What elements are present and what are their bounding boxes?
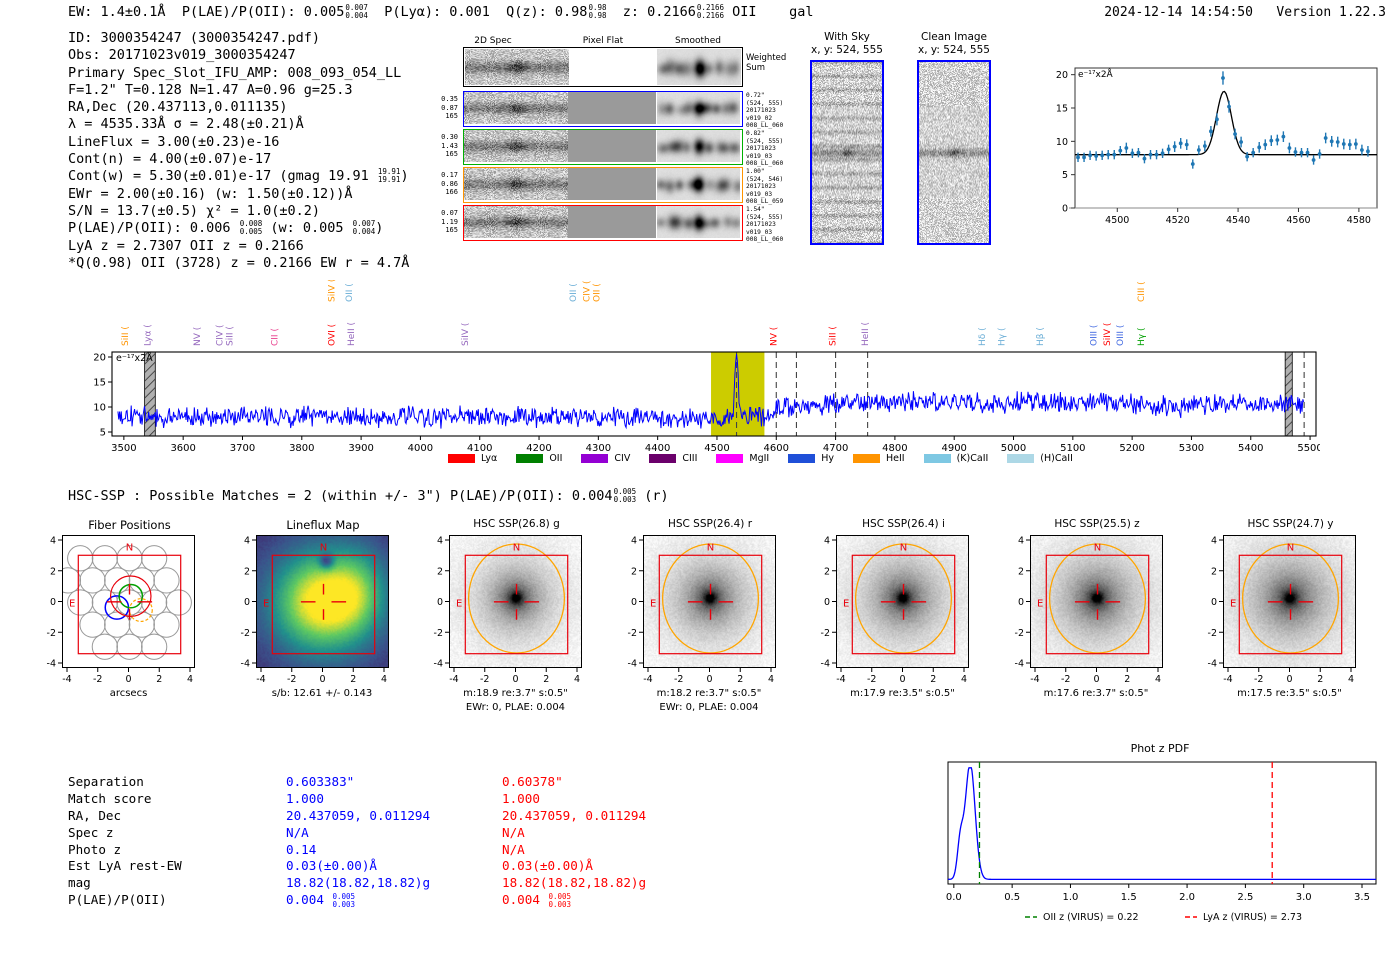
orientation-overlay: NE [63,536,195,668]
svg-text:0: 0 [1093,674,1099,685]
info-line-sn: S/N = 13.7(±0.5) χ² = 1.0(±0.2) [68,203,409,220]
fiber-pixelflat-image [568,168,656,200]
svg-text:-2: -2 [287,674,296,685]
svg-text:-4: -4 [1014,659,1023,670]
svg-text:HeII (: HeII ( [861,322,871,346]
svg-text:-4: -4 [62,674,71,685]
cutout-y-axis: 420-2-4 [415,531,449,672]
info-line-ewr: EWr = 2.00(±0.16) (w: 1.50(±0.12))Å [68,186,409,203]
match-value-red: 1.000 [502,791,540,808]
legend-swatch [924,454,951,463]
svg-text:4: 4 [630,536,636,547]
cutout-sub1: m:18.9 re:3.7" s:0.5" [425,688,606,699]
svg-text:-4: -4 [836,674,845,685]
svg-text:-2: -2 [93,674,102,685]
svg-text:0: 0 [243,597,249,608]
svg-text:4: 4 [380,674,386,685]
legend-swatch [853,454,880,463]
legend-swatch [448,454,475,463]
svg-text:4: 4 [961,674,967,685]
header-z: z: 0.2166 [623,4,696,20]
svg-text:LyA z (VIRUS) = 2.73: LyA z (VIRUS) = 2.73 [1203,912,1302,923]
svg-text:5300: 5300 [1179,443,1204,454]
version-label: Version 1.22.3 [1276,5,1386,20]
svg-text:4: 4 [1211,536,1217,547]
cutout-title: HSC SSP(26.4) r [637,518,784,530]
svg-text:2: 2 [737,674,743,685]
match-value-blue: 0.14 [286,842,316,859]
match-value-blue: 20.437059, 0.011294 [286,808,430,825]
legend-swatch [716,454,743,463]
svg-text:E: E [1036,598,1042,609]
legend-swatch [649,454,676,463]
weighted-sum-label: WeightedSum [746,53,786,73]
hscssp-headline-tail: (r) [644,488,668,504]
svg-text:-4: -4 [821,659,830,670]
svg-text:-4: -4 [240,659,249,670]
svg-text:SiII (: SiII ( [121,326,131,346]
svg-text:-4: -4 [256,674,265,685]
svg-text:SiIV (: SiIV ( [327,280,337,302]
cutout-y-axis: 420-2-4 [1189,531,1223,672]
match-value-red: 0.03(±0.00)Å [502,858,593,875]
spec2d-col-title-0: 2D Spec [453,36,533,46]
svg-text:4540: 4540 [1226,215,1250,226]
fiber-stats-left: 0.071.19165 [418,209,458,235]
svg-text:3800: 3800 [289,443,314,454]
svg-text:15: 15 [1056,104,1068,115]
svg-text:HeII (: HeII ( [347,322,357,346]
sky-panel-coords: x, y: 524, 555 [792,44,902,57]
svg-text:3900: 3900 [348,443,373,454]
legend-item-HCaII: (H)CaII [1007,453,1073,464]
legend-swatch [581,454,608,463]
info-line-obs: Obs: 20171023v019_3000354247 [68,47,409,64]
svg-text:-4: -4 [1208,659,1217,670]
info-line-radec: RA,Dec (20.437113,0.011135) [68,99,409,116]
svg-text:2: 2 [824,566,830,577]
legend-label: CIII [682,453,697,464]
svg-text:OII z (VIRUS) = 0.22: OII z (VIRUS) = 0.22 [1043,912,1139,923]
cutout-sub1: m:17.5 re:3.5" s:0.5" [1199,688,1380,699]
timestamp: 2024-12-14 14:54:50 [1104,5,1253,20]
svg-text:4: 4 [50,536,56,547]
svg-text:15: 15 [93,378,106,389]
svg-text:4: 4 [767,674,773,685]
header-class: gal [789,4,813,20]
svg-text:3.0: 3.0 [1296,892,1312,903]
svg-text:0: 0 [50,597,56,608]
svg-text:Hγ (: Hγ ( [998,328,1008,346]
svg-text:4: 4 [1017,536,1023,547]
match-value-blue: 18.82(18.82,18.82)g [286,875,430,892]
svg-text:CIII (: CIII ( [1137,281,1147,302]
fiber-pixelflat-image [568,206,656,238]
spec2d-fiber-row [463,167,743,203]
legend-item-Hy: Hy [788,453,834,464]
match-value-red: N/A [502,842,525,859]
legend-item-CIII: CIII [649,453,697,464]
header-plya: P(Lyα): 0.001 [384,4,490,20]
match-value-red: 0.60378" [502,774,563,791]
svg-text:CIV (: CIV ( [582,281,592,302]
svg-text:4: 4 [1154,674,1160,685]
legend-item-Lyα: Lyα [448,453,497,464]
svg-text:E: E [843,598,849,609]
legend-item-MgII: MgII [716,453,769,464]
svg-text:N: N [1287,543,1294,554]
svg-text:Lyα (: Lyα ( [144,324,154,346]
line-fit-chart: 0510152045004520454045604580e⁻¹⁷x2Å [1035,50,1385,240]
svg-text:-4: -4 [643,674,652,685]
svg-text:OII (: OII ( [569,283,579,302]
svg-text:CII (: CII ( [270,328,280,346]
cutout-sub2: EWr: 0, PLAE: 0.004 [425,702,606,713]
match-value-red: 0.004 0.0050.003 [502,892,571,909]
svg-text:0: 0 [1017,597,1023,608]
cutout-image-box[interactable]: NE [449,535,582,668]
spec2d-col-title-2: Smoothed [658,36,738,46]
sky-panel-coords: x, y: 524, 555 [899,44,1009,57]
cutout-sub1: m:17.6 re:3.7" s:0.5" [1006,688,1187,699]
match-value-blue: 1.000 [286,791,324,808]
legend-item-KCaII: (K)CaII [924,453,989,464]
svg-text:2: 2 [243,566,249,577]
info-line-qz: *Q(0.98) OII (3728) z = 0.2166 EW r = 4.… [68,255,409,272]
svg-text:1.0: 1.0 [1062,892,1078,903]
svg-text:N: N [706,543,713,554]
svg-text:2: 2 [543,674,549,685]
match-row-label: P(LAE)/P(OII) [68,892,167,909]
svg-text:0: 0 [437,597,443,608]
svg-text:-4: -4 [47,659,56,670]
svg-text:20: 20 [93,353,106,364]
svg-text:4: 4 [824,536,830,547]
sky-panel-image-box [917,60,991,245]
svg-text:e⁻¹⁷x2Å: e⁻¹⁷x2Å [116,352,153,364]
source-info-block: ID: 3000354247 (3000354247.pdf) Obs: 201… [68,30,409,272]
fiber-smoothed-image [657,130,740,162]
svg-text:2: 2 [630,566,636,577]
svg-text:N: N [1093,543,1100,554]
match-value-blue: 0.004 0.0050.003 [286,892,355,909]
svg-text:SiIV (: SiIV ( [461,323,471,346]
svg-text:-2: -2 [627,628,636,639]
info-line-ifu: Primary Spec_Slot_IFU_AMP: 008_093_054_L… [68,65,409,82]
svg-text:0: 0 [630,597,636,608]
sky-panel-title: With Skyx, y: 524, 555 [792,31,902,56]
hscssp-lo: 0.003 [614,496,637,504]
svg-text:0.5: 0.5 [1004,892,1020,903]
info-line-contw: Cont(w) = 5.30(±0.01)e-17 (gmag 19.91 19… [68,168,409,185]
legend-label: OII [549,453,562,464]
svg-text:E: E [649,598,655,609]
sky-panel-image [919,62,989,243]
header-z-lo: 0.2166 [697,12,724,20]
svg-text:-2: -2 [434,628,443,639]
svg-text:5400: 5400 [1238,443,1263,454]
fiber-pixelflat-image [568,92,656,124]
svg-text:-2: -2 [674,674,683,685]
svg-text:4: 4 [1348,674,1354,685]
header-ew: EW: 1.4±0.1Å [68,4,166,20]
svg-text:1.5: 1.5 [1121,892,1137,903]
svg-text:2: 2 [1124,674,1130,685]
svg-text:e⁻¹⁷x2Å: e⁻¹⁷x2Å [1078,68,1114,80]
svg-text:E: E [69,598,75,609]
svg-text:-2: -2 [867,674,876,685]
svg-text:2.0: 2.0 [1179,892,1195,903]
fiber-stats-left: 0.170.86166 [418,171,458,197]
svg-text:Hγ (: Hγ ( [1137,328,1147,346]
legend-item-OII: OII [516,453,562,464]
svg-text:SiIV (: SiIV ( [1103,323,1113,346]
match-value-red: N/A [502,825,525,842]
match-row-label: Match score [68,791,151,808]
svg-text:3.5: 3.5 [1354,892,1370,903]
svg-text:5: 5 [100,428,106,439]
match-value-blue: 0.603383" [286,774,354,791]
header-qz-lo: 0.98 [588,12,606,20]
svg-text:N: N [900,543,907,554]
cutout-title: HSC SSP(26.4) i [830,518,977,530]
photz-pdf-chart: Phot z PDF0.00.51.01.52.02.53.03.5OII z … [930,740,1390,940]
svg-text:-2: -2 [240,628,249,639]
svg-text:NV (: NV ( [769,327,779,346]
spec2d-fiber-row [463,129,743,165]
match-row-label: Separation [68,774,144,791]
cutout-y-axis: 420-2-4 [609,531,643,672]
svg-text:0: 0 [1286,674,1292,685]
info-line-lambda: λ = 4535.33Å σ = 2.48(±0.21)Å [68,116,409,133]
header-plae-lo: 0.004 [345,12,368,20]
svg-text:10: 10 [93,403,106,414]
svg-text:E: E [456,598,462,609]
svg-text:0: 0 [125,674,131,685]
svg-text:4580: 4580 [1347,215,1371,226]
info-line-plae: P(LAE)/P(OII): 0.006 0.0080.005 (w: 0.00… [68,220,409,237]
sky-panel-title: Clean Imagex, y: 524, 555 [899,31,1009,56]
cutout-image-box[interactable]: NE [256,535,389,668]
match-row-label: RA, Dec [68,808,121,825]
legend-swatch [788,454,815,463]
match-row-label: mag [68,875,91,892]
fiber-smoothed-image [657,206,740,238]
svg-text:20: 20 [1056,70,1068,81]
cutout-image-box[interactable]: NE [62,535,195,668]
svg-text:10: 10 [1056,137,1068,148]
info-line-contn: Cont(n) = 4.00(±0.07)e-17 [68,151,409,168]
orientation-overlay: NE [257,536,389,668]
cutout-sub1: arcsecs [38,688,219,699]
sky-panel-image [812,62,882,243]
weighted-sum-2dspec-image [465,49,569,85]
svg-text:-2: -2 [1014,628,1023,639]
svg-text:3500: 3500 [111,443,136,454]
cutout-title: HSC SSP(26.8) g [443,518,590,530]
info-line-lineflux: LineFlux = 3.00(±0.23)e-16 [68,134,409,151]
hscssp-headline: HSC-SSP : Possible Matches = 2 (within +… [68,488,669,504]
svg-text:0: 0 [319,674,325,685]
cutout-title: Fiber Positions [56,518,203,532]
legend-swatch [1007,454,1034,463]
orientation-overlay: NE [450,536,582,668]
svg-text:-2: -2 [821,628,830,639]
cutout-y-axis: 420-2-4 [222,531,256,672]
match-value-blue: 0.03(±0.00)Å [286,858,377,875]
legend-swatch [516,454,543,463]
match-row-label: Est LyA rest-EW [68,858,182,875]
svg-text:-4: -4 [434,659,443,670]
cutout-y-axis: 420-2-4 [28,531,62,672]
svg-text:-4: -4 [1030,674,1039,685]
svg-text:Phot z PDF: Phot z PDF [1131,742,1190,755]
info-line-obsparams: F=1.2" T=0.128 N=1.47 A=0.96 g=25.3 [68,82,409,99]
svg-text:2: 2 [437,566,443,577]
svg-text:SiII (: SiII ( [829,326,839,346]
svg-text:4: 4 [243,536,249,547]
orientation-overlay: NE [837,536,969,668]
fiber-pixelflat-image [568,130,656,162]
sky-panel-title-text: With Sky [792,31,902,44]
svg-text:3700: 3700 [230,443,255,454]
info-line-id: ID: 3000354247 (3000354247.pdf) [68,30,409,47]
svg-text:0: 0 [899,674,905,685]
cutout-title: Lineflux Map [250,518,397,532]
legend-label: Hy [821,453,834,464]
cutout-image-box[interactable]: NE [1030,535,1163,668]
fiber-meta-right: 1.00"(524, 546)20171023v019_03008_LL_059 [746,168,806,206]
cutout-title: HSC SSP(25.5) z [1024,518,1171,530]
fiber-stats-left: 0.301.43165 [418,133,458,159]
svg-text:-4: -4 [1223,674,1232,685]
svg-text:E: E [1230,598,1236,609]
fiber-2dspec-image [464,168,568,200]
svg-text:-2: -2 [1254,674,1263,685]
cutout-image-box[interactable]: NE [1223,535,1356,668]
weighted-sum-smoothed-image [657,49,741,85]
spec2d-weighted-sum-row [463,47,743,87]
cutout-title: HSC SSP(24.7) y [1217,518,1364,530]
svg-text:4000: 4000 [408,443,433,454]
svg-text:CIV (: CIV ( [215,325,225,346]
svg-text:0.0: 0.0 [946,892,962,903]
svg-text:Hδ (: Hδ ( [978,327,988,346]
svg-text:N: N [126,543,133,554]
svg-text:-4: -4 [449,674,458,685]
svg-text:OII (: OII ( [345,283,355,302]
cutout-image-box[interactable]: NE [643,535,776,668]
svg-text:OVI (: OVI ( [327,324,337,346]
svg-text:4: 4 [437,536,443,547]
fiber-2dspec-image [464,130,568,162]
legend-item-HeII: HeII [853,453,905,464]
legend-label: CIV [614,453,630,464]
svg-text:2: 2 [1317,674,1323,685]
svg-text:2: 2 [50,566,56,577]
svg-text:OII (: OII ( [593,283,603,302]
fiber-meta-right: 0.82"(524, 555)20171023v019_03008_LL_060 [746,130,806,168]
sky-panel-title-text: Clean Image [899,31,1009,44]
svg-text:OIII (: OIII ( [1090,325,1100,346]
header-plae: P(LAE)/P(OII): 0.005 [182,4,345,20]
svg-text:5: 5 [1062,170,1068,181]
spec2d-col-title-1: Pixel Flat [563,36,643,46]
svg-text:OIII (: OIII ( [1116,325,1126,346]
legend-item-CIV: CIV [581,453,630,464]
svg-text:4: 4 [187,674,193,685]
match-value-red: 18.82(18.82,18.82)g [502,875,646,892]
svg-text:N: N [513,543,520,554]
svg-text:4: 4 [574,674,580,685]
fiber-stats-left: 0.350.87165 [418,95,458,121]
svg-text:-2: -2 [47,628,56,639]
svg-text:4520: 4520 [1166,215,1190,226]
svg-text:NV (: NV ( [193,327,203,346]
svg-text:0: 0 [1211,597,1217,608]
svg-text:3600: 3600 [170,443,195,454]
svg-text:-2: -2 [1061,674,1070,685]
info-line-z: LyA z = 2.7307 OII z = 0.2166 [68,238,409,255]
legend-label: (K)CaII [957,453,989,464]
svg-text:E: E [262,598,268,609]
header-qz: Q(z): 0.98 [506,4,587,20]
svg-text:0: 0 [1062,204,1068,215]
orientation-overlay: NE [1031,536,1163,668]
svg-text:2.5: 2.5 [1237,892,1253,903]
legend-label: (H)CaII [1040,453,1073,464]
match-value-red: 20.437059, 0.011294 [502,808,646,825]
fiber-meta-right: 1.54"(524, 555)20171023v019_03008_LL_060 [746,206,806,244]
svg-text:2: 2 [1211,566,1217,577]
spec2d-fiber-row [463,91,743,127]
cutout-sub2: EWr: 0, PLAE: 0.004 [619,702,800,713]
match-value-blue: N/A [286,825,309,842]
cutout-y-axis: 420-2-4 [802,531,836,672]
legend-label: MgII [749,453,769,464]
header-line: OII [732,4,756,20]
cutout-sub1: m:17.9 re:3.5" s:0.5" [812,688,993,699]
svg-text:0: 0 [512,674,518,685]
full-spectrum-chart: 5101520350036003700380039004000410042004… [84,280,1320,460]
orientation-overlay: NE [644,536,776,668]
fiber-smoothed-image [657,168,740,200]
sky-panel-image-box [810,60,884,245]
spectrum-legend: LyαOIICIVCIIIMgIIHyHeII(K)CaII(H)CaII [448,446,1092,465]
fiber-smoothed-image [657,92,740,124]
header-summary-line: EW: 1.4±0.1Å P(LAE)/P(OII): 0.0050.0070.… [68,4,813,20]
cutout-sub1: s/b: 12.61 +/- 0.143 [232,688,413,699]
svg-text:2: 2 [350,674,356,685]
svg-text:-2: -2 [1208,628,1217,639]
header-version-block: 2024-12-14 14:54:50 Version 1.22.3 [1104,5,1386,20]
svg-text:SiII (: SiII ( [225,326,235,346]
svg-text:-4: -4 [627,659,636,670]
cutout-image-box[interactable]: NE [836,535,969,668]
legend-label: Lyα [481,453,497,464]
legend-label: HeII [886,453,905,464]
fiber-meta-right: 0.72"(524, 555)20171023v019_02008_LL_060 [746,92,806,130]
svg-text:0: 0 [824,597,830,608]
match-row-label: Spec z [68,825,114,842]
cutout-y-axis: 420-2-4 [996,531,1030,672]
svg-text:4500: 4500 [1105,215,1129,226]
svg-text:4560: 4560 [1286,215,1310,226]
cutout-sub1: m:18.2 re:3.7" s:0.5" [619,688,800,699]
svg-text:5500: 5500 [1297,443,1320,454]
svg-text:-2: -2 [480,674,489,685]
svg-text:2: 2 [930,674,936,685]
